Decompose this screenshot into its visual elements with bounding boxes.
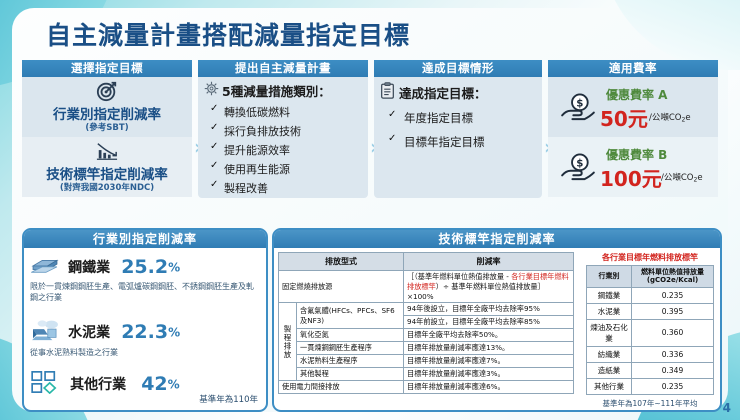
industry-row-cement: 水泥業 22.3% [30, 318, 266, 346]
rate-unit: /公噸CO2e [661, 171, 703, 184]
page-title: 自主減量計畫搭配減量指定目標 [46, 16, 410, 52]
flow-column-select-target: 選擇指定目標 行業別指定削減率 (參考SBT) 技術標竿指定削減率 (對齊我國2… [22, 60, 192, 197]
header-unit-text: (gCO2e/Kcal) [647, 276, 698, 284]
rate-card-b[interactable]: $ 優惠費率 B 100元 /公噸CO2e [548, 137, 718, 197]
measures-heading: 5種減量措施類別： [222, 81, 331, 100]
measure-item: ✓製程改善 [198, 178, 368, 197]
cell-reduction-rate: 目標年排放量削減率應達13%。 [404, 342, 574, 355]
flow-column-body: $ 優惠費率 A 50元 /公噸CO2e $ 優惠費率 B 100元 /公噸CO… [548, 77, 718, 197]
industry-value: 42 [141, 373, 167, 395]
industry-value: 22.3 [121, 321, 168, 343]
measure-item: ✓採行負排放技術 [198, 121, 368, 140]
industry-name: 其他行業 [70, 377, 126, 393]
money-hand-icon: $ [560, 153, 596, 185]
cell-emission-type: 含氟氣體(HFCs、PFCs、SF6及NF3) [297, 303, 404, 329]
industry-percent-sign: % [168, 378, 180, 392]
rate-unit-main: /公噸CO [661, 173, 694, 183]
industry-name: 鋼鐵業 [68, 260, 110, 276]
clipboard-icon [380, 82, 395, 103]
gear-icon [204, 81, 219, 100]
check-icon: ✓ [210, 122, 218, 133]
target-option-subtitle: (參考SBT) [22, 121, 192, 133]
flow-column-goal-status: 達成目標情形 達成指定目標： ✓年度指定目標 ✓目標年指定目標 ›› [374, 60, 542, 198]
check-icon: ✓ [210, 103, 218, 114]
benchmark-rate-table-wrap: 排放型式 削減率 固定燃燒排放源 ［（基準年燃料單位熱值排放量 - 各行業目標年… [278, 252, 574, 394]
measure-label: 轉換低碳燃料 [224, 106, 290, 119]
header-main-text: 燃料單位熱值排放量 [641, 268, 704, 276]
rate-unit-main: /公噸CO [649, 113, 682, 123]
table-header-row: 行業別 燃料單位熱值排放量(gCO2e/Kcal) [587, 266, 714, 288]
panel-header-benchmark: 技術標竿指定削減率 [274, 230, 720, 248]
cell-industry: 紡織業 [587, 346, 632, 362]
check-icon: ✓ [388, 133, 396, 144]
column-header-emission-type: 排放型式 [279, 253, 404, 271]
industry-percent-sign: % [168, 261, 180, 275]
cell-reduction-rate: 94年前設立，目標年全廠平均去除率85% [404, 316, 574, 329]
base-year-note: 基準年為110年 [199, 393, 258, 405]
cell-emission-type: 氧化亞氮 [297, 329, 404, 342]
rate-unit-tail: e [685, 113, 690, 123]
goal-label: 目標年指定目標 [404, 135, 485, 149]
cell-value: 0.349 [632, 362, 714, 378]
cell-reduction-rate-formula: ［（基準年燃料單位熱值排放量 - 各行業目標年燃料排放標竿）÷ 基準年燃料單位熱… [404, 271, 574, 303]
table-row: 紡織業0.336 [587, 346, 714, 362]
target-option-sbt[interactable]: 行業別指定削減率 (參考SBT) [22, 77, 192, 137]
rate-unit: /公噸CO2e [649, 111, 691, 124]
cell-emission-type: 一貫煉鋼鋼胚生產程序 [297, 342, 404, 355]
rate-amount: 100元 [600, 163, 662, 192]
money-hand-icon: $ [560, 93, 596, 125]
table-row: 氧化亞氮 目標年全廠平均去除率50%。 [279, 329, 574, 342]
goal-item: ✓年度指定目標 [374, 106, 542, 130]
measure-item: ✓使用再生能源 [198, 159, 368, 178]
measure-label: 製程改善 [224, 182, 268, 195]
table-row: 一貫煉鋼鋼胚生產程序 目標年排放量削減率應達13%。 [279, 342, 574, 355]
table-row: 煉油及石化業0.360 [587, 319, 714, 346]
cell-reduction-rate: 目標年排放量削減率應達7%。 [404, 355, 574, 368]
measures-heading-row: 5種減量措施類別： [198, 77, 368, 102]
cell-reduction-rate: 94年後設立，目標年全廠平均去除率95% [404, 303, 574, 316]
target-option-benchmark[interactable]: 技術標竿指定削減率 (對齊我國2030年NDC) [22, 137, 192, 197]
flow-column-header: 選擇指定目標 [22, 60, 192, 77]
cell-industry: 鋼鐵業 [587, 287, 632, 303]
fuel-benchmark-title: 各行業目標年燃料排放標竿 [586, 252, 714, 263]
cell-reduction-rate: 目標年排放量削減率應達6%。 [404, 381, 574, 394]
industry-value: 25.2 [121, 256, 168, 278]
cell-emission-type: 固定燃燒排放源 [279, 271, 404, 303]
table-row: 水泥業0.395 [587, 303, 714, 319]
flow-column-header: 適用費率 [548, 60, 718, 77]
benchmark-option-title: 技術標竿指定削減率 [22, 163, 192, 183]
cell-emission-type: 水泥熟料生產程序 [297, 355, 404, 368]
table-row: 水泥熟料生產程序 目標年排放量削減率應達7%。 [279, 355, 574, 368]
fuel-benchmark-table: 行業別 燃料單位熱值排放量(gCO2e/Kcal) 鋼鐵業0.235 水泥業0.… [586, 265, 714, 395]
panel-header-industry: 行業別指定削減率 [24, 230, 266, 248]
cement-icon [30, 318, 60, 346]
others-icon [30, 370, 62, 398]
cell-reduction-rate: 目標年全廠平均去除率50%。 [404, 329, 574, 342]
row-group-label-process-emission: 製程排放 [279, 303, 297, 381]
column-header-reduction-rate: 削減率 [404, 253, 574, 271]
fuel-benchmark-table-wrap: 各行業目標年燃料排放標竿 行業別 燃料單位熱值排放量(gCO2e/Kcal) 鋼… [586, 252, 714, 409]
check-icon: ✓ [210, 179, 218, 190]
measure-label: 使用再生能源 [224, 163, 290, 176]
table-row: 其他行業0.235 [587, 378, 714, 394]
table-header-row: 排放型式 削減率 [279, 253, 574, 271]
steel-icon [30, 254, 60, 280]
page-number: 4 [723, 401, 731, 415]
svg-text:$: $ [576, 98, 583, 110]
formula-prefix: ［（基準年燃料單位熱值排放量 - [407, 272, 511, 281]
svg-text:$: $ [576, 158, 583, 170]
flow-column-header: 達成目標情形 [374, 60, 542, 77]
benchmark-option-subtitle: (對齊我國2030年NDC) [22, 181, 192, 193]
cell-industry: 造紙業 [587, 362, 632, 378]
table-row: 製程排放 含氟氣體(HFCs、PFCs、SF6及NF3) 94年後設立，目標年全… [279, 303, 574, 316]
industry-percent-sign: % [168, 325, 180, 339]
flow-column-applicable-rate: 適用費率 $ 優惠費率 A 50元 /公噸CO2e $ 優惠費率 B 100元 [548, 60, 718, 197]
cell-value: 0.395 [632, 303, 714, 319]
cell-value: 0.360 [632, 319, 714, 346]
table-row: 其他製程 目標年排放量削減率應達3%。 [279, 368, 574, 381]
industry-row-steel: 鋼鐵業 25.2% [30, 254, 266, 280]
table-row: 使用電力間接排放 目標年排放量削減率應達6%。 [279, 381, 574, 394]
rate-amount: 50元 [600, 103, 648, 132]
table-row: 鋼鐵業0.235 [587, 287, 714, 303]
process-flow: 選擇指定目標 行業別指定削減率 (參考SBT) 技術標竿指定削減率 (對齊我國2… [22, 60, 718, 210]
technical-benchmark-panel: 技術標竿指定削減率 排放型式 削減率 固定燃燒排放源 ［（基準年燃料單位熱值排放… [272, 228, 722, 412]
check-icon: ✓ [388, 109, 396, 120]
cell-value: 0.336 [632, 346, 714, 362]
industry-description: 限於一貫煉鋼鋼胚生產、電弧爐碳鋼鋼胚、不銹鋼鋼胚生產及軋鋼之行業 [30, 282, 260, 304]
flow-column-submit-plan: 提出自主減量計畫 5種減量措施類別： ✓轉換低碳燃料 ✓採行負排放技術 ✓提升能… [198, 60, 368, 198]
cell-reduction-rate: 目標年排放量削減率應達3%。 [404, 368, 574, 381]
benchmark-rate-table: 排放型式 削減率 固定燃燒排放源 ［（基準年燃料單位熱值排放量 - 各行業目標年… [278, 252, 574, 394]
flow-column-body: 行業別指定削減率 (參考SBT) 技術標竿指定削減率 (對齊我國2030年NDC… [22, 77, 192, 197]
slide: 自主減量計畫搭配減量指定目標 選擇指定目標 行業別指定削減率 (參考SBT) 技… [0, 0, 740, 420]
flow-column-header: 提出自主減量計畫 [198, 60, 368, 77]
measure-item: ✓轉換低碳燃料 [198, 102, 368, 121]
cell-value: 0.235 [632, 287, 714, 303]
target-option-title: 行業別指定削減率 [22, 103, 192, 123]
rate-card-a[interactable]: $ 優惠費率 A 50元 /公噸CO2e [548, 77, 718, 137]
measure-item: ✓提升能源效率 [198, 140, 368, 159]
column-header-industry: 行業別 [587, 266, 632, 288]
industry-description: 從事水泥熟料製造之行業 [30, 348, 260, 359]
check-icon: ✓ [210, 160, 218, 171]
cell-industry: 水泥業 [587, 303, 632, 319]
cell-industry: 其他行業 [587, 378, 632, 394]
check-icon: ✓ [210, 141, 218, 152]
industry-reduction-panel: 行業別指定削減率 鋼鐵業 25.2% 限於一貫煉鋼鋼胚生產、電弧爐碳鋼鋼胚、不銹… [22, 228, 268, 412]
table-row: 造紙業0.349 [587, 362, 714, 378]
measure-label: 提升能源效率 [224, 144, 290, 157]
column-header-fuel-emission: 燃料單位熱值排放量(gCO2e/Kcal) [632, 266, 714, 288]
cell-industry: 煉油及石化業 [587, 319, 632, 346]
rate-unit-tail: e [697, 173, 702, 183]
fuel-benchmark-note: 基準年為107年~111年平均 [586, 398, 714, 409]
goal-item: ✓目標年指定目標 [374, 130, 542, 154]
cell-emission-type: 使用電力間接排放 [279, 381, 404, 394]
industry-name: 水泥業 [68, 325, 110, 341]
goal-label: 年度指定目標 [404, 111, 473, 125]
flow-column-body: 5種減量措施類別： ✓轉換低碳燃料 ✓採行負排放技術 ✓提升能源效率 ✓使用再生… [198, 77, 368, 198]
cell-emission-type: 其他製程 [297, 368, 404, 381]
goal-heading-row: 達成指定目標： [374, 77, 542, 106]
goal-heading: 達成指定目標： [399, 83, 487, 102]
flow-column-body: 達成指定目標： ✓年度指定目標 ✓目標年指定目標 [374, 77, 542, 198]
cell-value: 0.235 [632, 378, 714, 394]
rate-label: 優惠費率 B [606, 146, 667, 163]
table-row: 固定燃燒排放源 ［（基準年燃料單位熱值排放量 - 各行業目標年燃料排放標竿）÷ … [279, 271, 574, 303]
measure-label: 採行負排放技術 [224, 125, 301, 138]
rate-label: 優惠費率 A [606, 86, 667, 103]
